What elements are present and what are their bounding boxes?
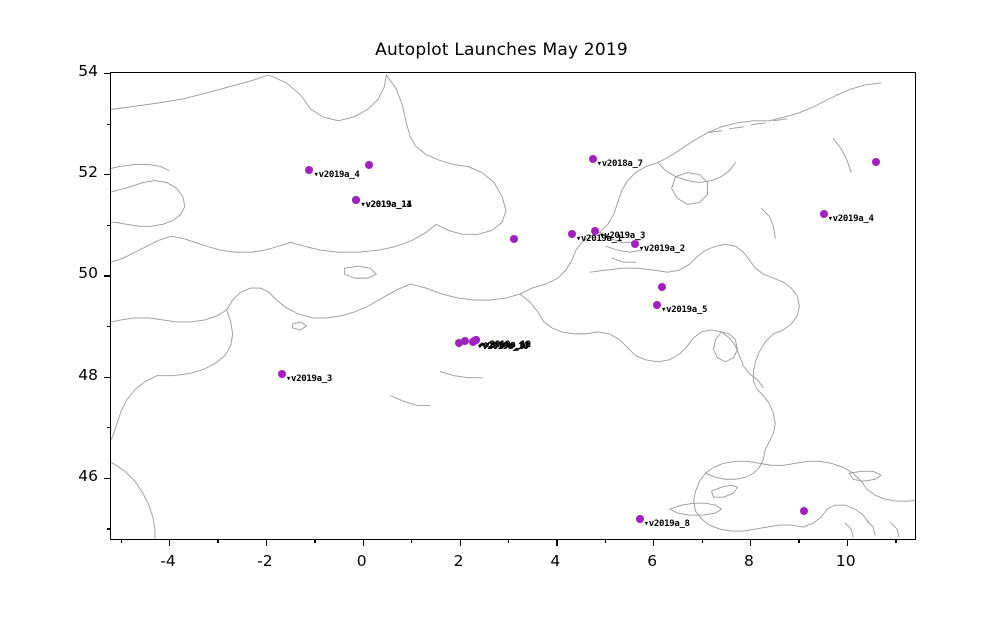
data-point[interactable] <box>658 283 666 291</box>
x-axis-minor-tick <box>508 539 509 543</box>
x-axis-tick-label: 4 <box>550 552 560 570</box>
x-axis-tick <box>363 539 364 546</box>
y-axis-minor-tick <box>107 528 111 529</box>
x-axis-tick-label: -4 <box>160 552 175 570</box>
x-axis-minor-tick <box>121 539 122 543</box>
data-point-label: ▾v2019a_3 <box>286 374 332 384</box>
y-axis-tick <box>104 174 111 175</box>
y-axis-minor-tick <box>107 225 111 226</box>
x-axis-minor-tick <box>217 539 218 543</box>
x-axis-tick <box>653 539 654 546</box>
data-point[interactable] <box>653 301 661 309</box>
y-axis-minor-tick <box>107 326 111 327</box>
data-point-label: ▾v2019a_2 <box>639 244 685 254</box>
x-axis-minor-tick <box>798 539 799 543</box>
y-axis-tick <box>104 377 111 378</box>
data-point-label: ▾v2019a_8 <box>644 519 690 529</box>
data-point[interactable] <box>872 158 880 166</box>
data-point-label: ▾v2018a_7 <box>597 159 643 169</box>
x-axis-tick-label: 10 <box>836 552 856 570</box>
data-point[interactable] <box>568 230 576 238</box>
y-axis-tick <box>104 275 111 276</box>
data-point[interactable] <box>800 507 808 515</box>
y-axis-minor-tick <box>107 427 111 428</box>
x-axis-minor-tick <box>314 539 315 543</box>
data-point-label: ▾v2019a_5 <box>661 305 707 315</box>
x-axis-tick <box>750 539 751 546</box>
data-point[interactable] <box>631 240 639 248</box>
x-axis-tick-label: 2 <box>454 552 464 570</box>
data-point[interactable] <box>278 370 286 378</box>
x-axis-minor-tick <box>605 539 606 543</box>
data-point[interactable] <box>510 235 518 243</box>
data-point[interactable] <box>365 161 373 169</box>
data-point[interactable] <box>305 166 313 174</box>
x-axis-tick-label: 8 <box>744 552 754 570</box>
map-coastlines <box>111 73 915 539</box>
data-point-label: ▾v2019a_4 <box>313 170 359 180</box>
plot-axes: ▾v2019a_4▾v2019a_11▾v2019a_14▾v2019a_3▾v… <box>110 72 916 540</box>
x-axis-tick-label: -2 <box>257 552 272 570</box>
x-axis-minor-tick <box>702 539 703 543</box>
chart-title: Autoplot Launches May 2019 <box>0 40 1003 60</box>
data-point[interactable] <box>591 227 599 235</box>
data-point[interactable] <box>636 515 644 523</box>
x-axis-minor-tick <box>411 539 412 543</box>
figure-canvas: Autoplot Launches May 2019 <box>0 0 1003 633</box>
data-point-label: ▾v2019a_14 <box>360 200 411 210</box>
data-point[interactable] <box>820 210 828 218</box>
x-axis-tick <box>266 539 267 546</box>
data-point[interactable] <box>352 196 360 204</box>
data-point[interactable] <box>589 155 597 163</box>
x-axis-minor-tick <box>895 539 896 543</box>
x-axis-tick <box>169 539 170 546</box>
data-point[interactable] <box>469 338 477 346</box>
x-axis-tick <box>556 539 557 546</box>
map-clip-region: ▾v2019a_4▾v2019a_11▾v2019a_14▾v2019a_3▾v… <box>111 73 915 539</box>
x-axis-tick <box>847 539 848 546</box>
y-axis-tick <box>104 73 111 74</box>
data-point[interactable] <box>461 337 469 345</box>
x-axis-tick <box>460 539 461 546</box>
x-axis-tick-label: 0 <box>357 552 367 570</box>
data-point-label: ▾v2019a_16 <box>477 342 528 352</box>
y-axis-minor-tick <box>107 124 111 125</box>
x-axis-tick-label: 6 <box>647 552 657 570</box>
y-axis-tick <box>104 478 111 479</box>
data-point-label: ▾v2019a_3 <box>599 231 645 241</box>
data-point-label: ▾v2019a_4 <box>828 214 874 224</box>
